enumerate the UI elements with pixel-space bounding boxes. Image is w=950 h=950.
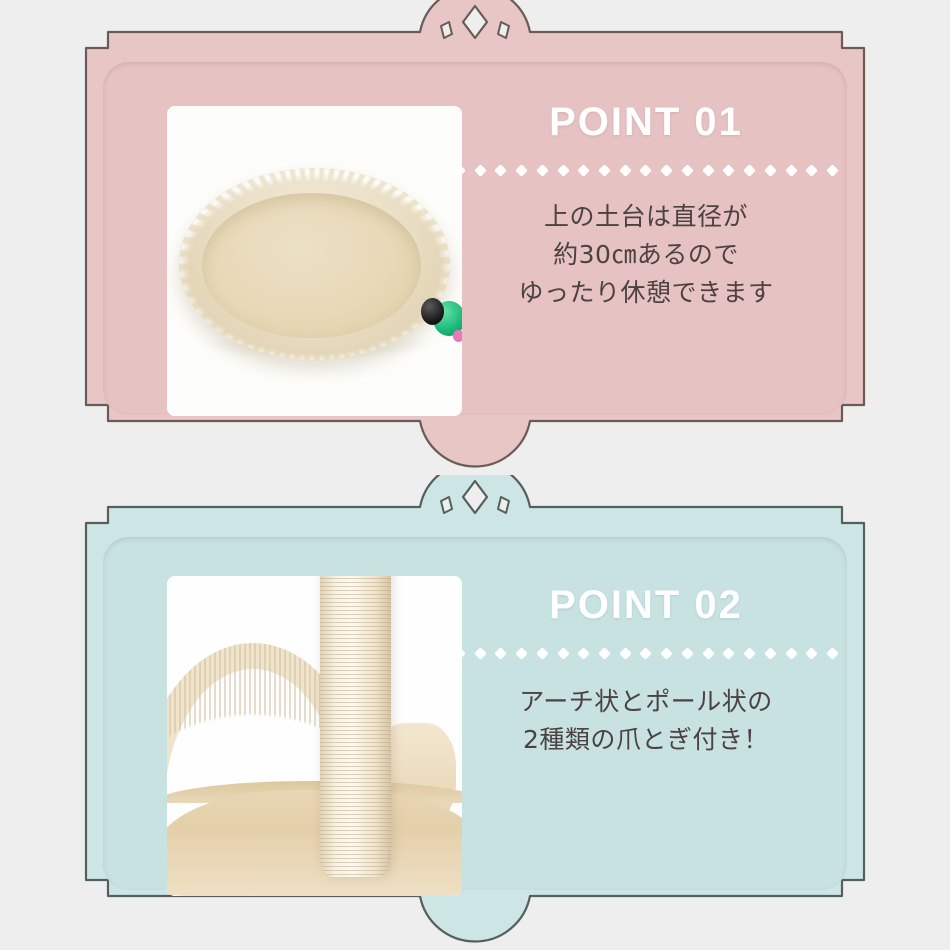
divider-diamond-icon [785, 164, 798, 177]
divider-diamond-icon [660, 647, 673, 660]
sparkle-star-right-icon [498, 497, 509, 513]
divider-diamond-icon [805, 164, 818, 177]
divider-diamond-icon [453, 164, 466, 177]
diamond-divider [455, 647, 837, 659]
divider-diamond-icon [557, 647, 570, 660]
divider-diamond-icon [743, 647, 756, 660]
point-body-text: アーチ状とポール状の 2種類の爪とぎ付き！ [519, 683, 773, 759]
sisal-pole-and-arch-scratcher-photo [167, 576, 462, 896]
divider-diamond-icon [474, 647, 487, 660]
divider-diamond-icon [536, 164, 549, 177]
divider-diamond-icon [577, 647, 590, 660]
divider-diamond-icon [805, 647, 818, 660]
divider-diamond-icon [640, 164, 653, 177]
divider-diamond-icon [681, 647, 694, 660]
divider-diamond-icon [722, 164, 735, 177]
divider-diamond-icon [515, 647, 528, 660]
divider-diamond-icon [785, 647, 798, 660]
point-title: POINT 02 [549, 579, 743, 625]
sparkle-star-center-icon [463, 6, 487, 38]
divider-diamond-icon [743, 164, 756, 177]
product-feature-banner: POINT 01 上の土台は直径が 約30㎝あるので ゆったり休憩できます [0, 0, 950, 950]
divider-diamond-icon [764, 647, 777, 660]
divider-diamond-icon [598, 164, 611, 177]
sparkle-star-left-icon [441, 22, 452, 38]
divider-diamond-icon [495, 164, 508, 177]
divider-diamond-icon [702, 647, 715, 660]
divider-diamond-icon [764, 164, 777, 177]
feature-panel-point-01: POINT 01 上の土台は直径が 約30㎝あるので ゆったり休憩できます [0, 0, 950, 475]
divider-diamond-icon [577, 164, 590, 177]
divider-diamond-icon [640, 647, 653, 660]
round-plush-cat-bed-photo [167, 106, 462, 416]
base-platform [167, 790, 462, 896]
point-title: POINT 01 [549, 96, 743, 142]
feature-panel-point-02: POINT 02 アーチ状とポール状の 2種類の爪とぎ付き！ [0, 475, 950, 950]
sparkle-ornament-group [0, 0, 950, 60]
divider-diamond-icon [619, 647, 632, 660]
photo-scene [167, 106, 462, 416]
divider-diamond-icon [495, 647, 508, 660]
divider-diamond-icon [515, 164, 528, 177]
panel-card-point-02: POINT 02 アーチ状とポール状の 2種類の爪とぎ付き！ [103, 537, 847, 890]
sisal-pole-texture [320, 576, 391, 877]
divider-diamond-icon [722, 647, 735, 660]
sparkle-star-right-icon [498, 22, 509, 38]
panel-text-column-point-01: POINT 01 上の土台は直径が 約30㎝あるので ゆったり休憩できます [455, 96, 837, 405]
photo-scene [167, 576, 462, 896]
sparkle-ornament-group [0, 475, 950, 535]
divider-diamond-icon [474, 164, 487, 177]
divider-diamond-icon [660, 164, 673, 177]
divider-diamond-icon [557, 164, 570, 177]
divider-diamond-icon [826, 647, 839, 660]
divider-diamond-icon [826, 164, 839, 177]
divider-diamond-icon [598, 647, 611, 660]
sparkle-star-center-icon [463, 481, 487, 513]
divider-diamond-icon [702, 164, 715, 177]
divider-diamond-icon [536, 647, 549, 660]
divider-diamond-icon [619, 164, 632, 177]
panel-text-column-point-02: POINT 02 アーチ状とポール状の 2種類の爪とぎ付き！ [455, 579, 837, 880]
point-body-text: 上の土台は直径が 約30㎝あるので ゆったり休憩できます [518, 198, 773, 312]
divider-diamond-icon [453, 647, 466, 660]
panel-card-point-01: POINT 01 上の土台は直径が 約30㎝あるので ゆったり休憩できます [103, 62, 847, 415]
pompom-black [421, 298, 444, 325]
sisal-pole [320, 576, 391, 877]
bed-inner-cushion [202, 193, 420, 339]
sparkle-star-left-icon [441, 497, 452, 513]
divider-diamond-icon [681, 164, 694, 177]
diamond-divider [455, 164, 837, 176]
